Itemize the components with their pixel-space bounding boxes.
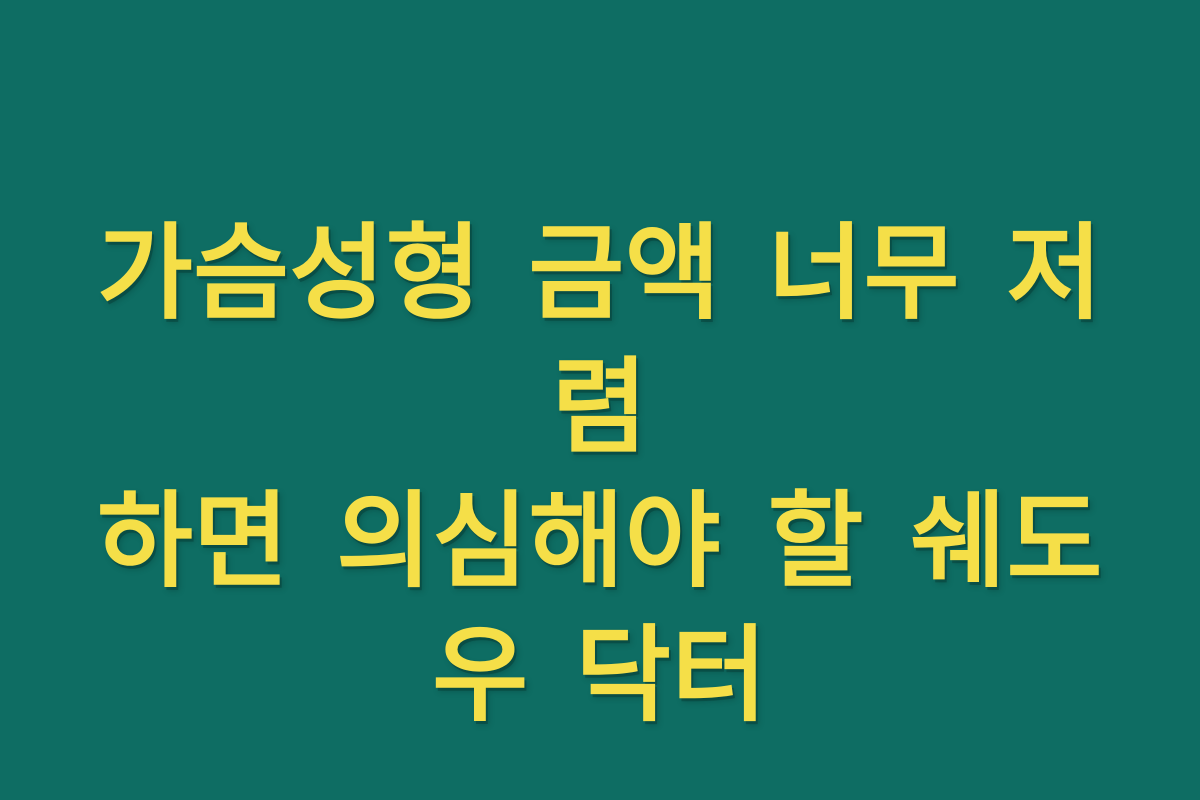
headline-text: 가슴성형 금액 너무 저렴 하면 의심해야 할 쉐도 우 닥터: [70, 206, 1130, 742]
headline-line-3: 우 닥터: [70, 608, 1130, 742]
banner-canvas: 가슴성형 금액 너무 저렴 하면 의심해야 할 쉐도 우 닥터: [0, 0, 1200, 800]
headline-line-2: 하면 의심해야 할 쉐도: [70, 474, 1130, 608]
headline-line-1: 가슴성형 금액 너무 저렴: [70, 206, 1130, 474]
